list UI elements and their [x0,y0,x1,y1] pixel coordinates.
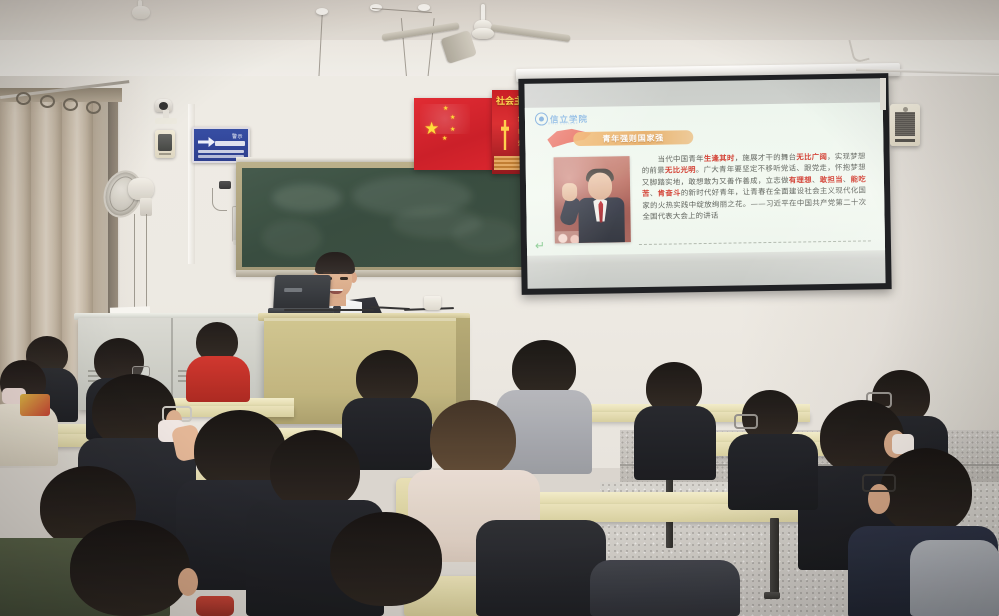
slide-title-banner: 青年强则国家强 [573,130,693,146]
quote-highlight: 生逢其时 [704,154,735,163]
quote-highlight: 敢担当 [820,175,843,184]
college-logo: 信立学院 XINLI COLLEGE [535,112,588,126]
quote-highlight: 肯奋斗 [658,189,681,198]
eyeglasses-icon [734,414,758,429]
switch-cord [212,188,227,211]
national-flag: ★ ★ ★ ★ ★ [414,98,498,170]
slide-quote-text: 当代中国青年生逢其时，施展才干的舞台无比广阔，实现梦想的前景无比光明。广大青年要… [642,150,867,222]
quote-run: ，施展才干的舞台 [735,153,797,163]
speaker-bracket [880,78,886,110]
wall-mounted-fan[interactable] [104,170,156,216]
curtain-grommet [63,98,78,111]
classroom-photo: 警示 ★ ★ ★ ★ ★ 社会主义 富强 [0,0,999,616]
wall-control-panel[interactable] [155,130,175,158]
camera-glyph-icon [198,137,215,147]
dashed-divider [639,240,871,245]
sign-textline [198,150,244,153]
curtain-grommet [86,101,101,114]
torch-icon [501,120,509,150]
ear [178,568,198,596]
sign-label: 警示 [232,133,243,140]
logo-ring-icon [535,112,548,125]
slide-content: 信立学院 XINLI COLLEGE 青年强则国家强 [525,102,885,256]
blackboard [242,168,526,267]
panel-screen [158,134,172,151]
curtain-grommet [40,95,55,108]
quote-run: 、 [843,175,851,184]
desk-foot [764,592,780,599]
cup[interactable] [424,296,441,310]
quote-run: 当代中国青年 [658,154,704,164]
curtain-grommet [16,92,31,105]
ceiling-mount [418,4,430,11]
eyeglasses-icon [862,474,896,492]
quote-highlight: 有理想 [789,175,812,184]
fan-motor [128,178,154,200]
laptop-logo [284,288,302,292]
enter-arrow-icon[interactable]: ↵ [535,240,545,252]
slide-title: 青年强则国家强 [602,132,664,144]
desk-leg [770,518,779,598]
logo-name-en: XINLI COLLEGE [548,121,578,125]
sign-subbar [215,141,245,146]
red-object [196,596,234,616]
camera-lens-icon [159,102,168,110]
quote-highlight: 无比光明 [665,166,696,175]
screen-surface: 信立学院 XINLI COLLEGE 青年强则国家强 [524,78,885,289]
panel-slot [159,153,171,155]
speaker-vent [895,139,915,142]
photo-head [588,172,612,199]
leader-photo [554,156,631,243]
ceiling-fan [455,4,655,64]
quote-highlight: 无比广阔 [796,152,827,161]
wall-speaker [890,104,920,146]
ceiling-fan [120,0,180,24]
camera-base [155,118,177,124]
presenter-eyebrow [323,272,332,274]
presenter-eyebrow [339,272,348,274]
projection-screen[interactable]: 信立学院 XINLI COLLEGE 青年强则国家强 [518,73,891,295]
ceiling-mount [316,8,328,15]
speaker-grill [895,112,915,136]
scarf [20,394,50,416]
presenter-eye [340,277,348,280]
quote-run: 、 [812,175,820,184]
waving-hand-icon [562,183,577,201]
